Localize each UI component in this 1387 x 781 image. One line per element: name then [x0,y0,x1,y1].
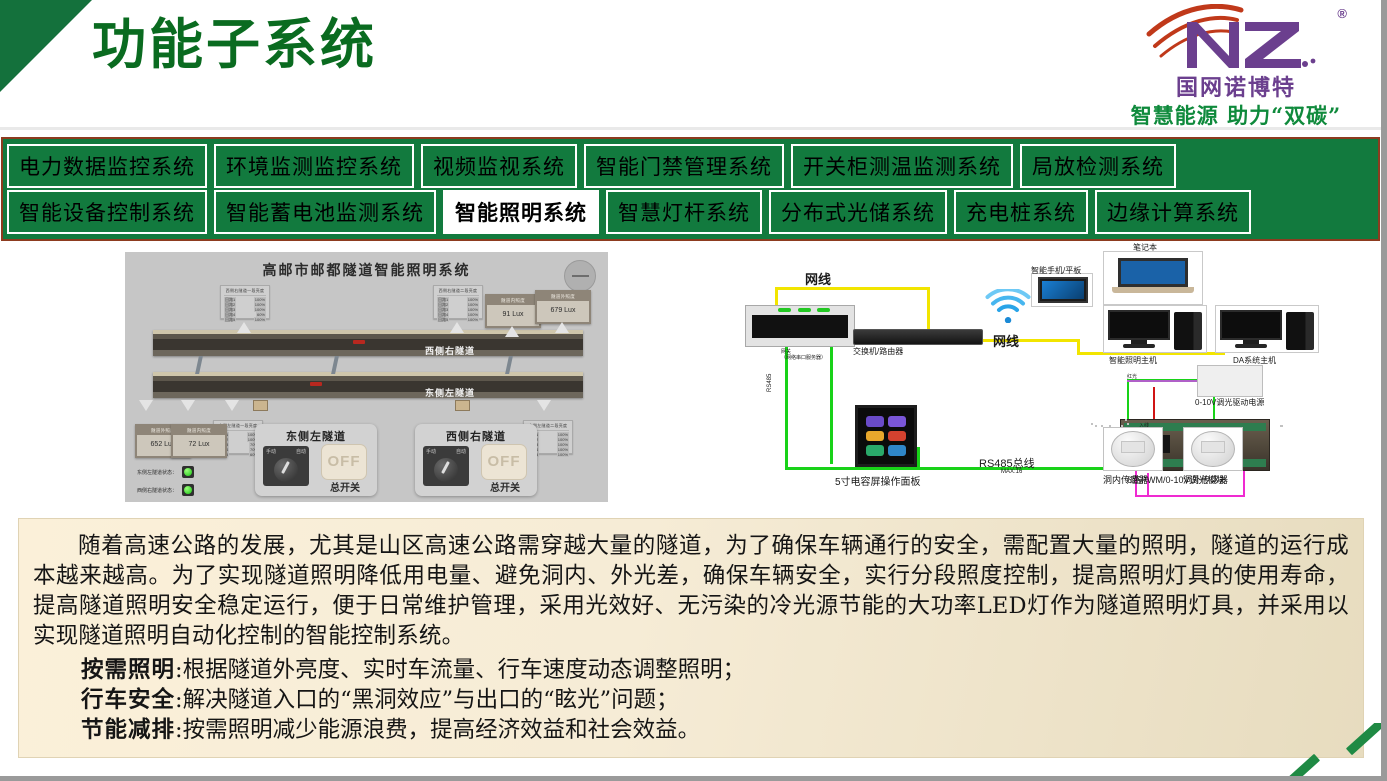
bullet-energy-saving: 节能减排:按需照明减少能源浪费，提高经济效益和社会效益。 [33,715,1349,745]
tunnel-control-panel-east[interactable]: 东侧左隧道 手动 自动 OFF 总开关 [255,424,377,496]
control-panel-title: 东侧左隧道 [255,424,377,444]
gateway-screen [752,315,847,338]
logo-company-name: 国网诺博特 [1113,70,1359,102]
monitor-screen [1108,310,1170,340]
sensor-outdoor [1183,427,1243,471]
laptop-device [1118,258,1188,298]
rs485-vertical-label: RS485 [767,374,773,392]
sensor-spacer7 [1127,423,1129,425]
tab-switchgear-temperature[interactable]: 开关柜测温监测系统 [791,144,1013,188]
bullet-on-demand-lighting: 按需照明:根据隧道外亮度、实时车流量、行车速度动态调整照明； [33,655,1349,685]
panel-tile[interactable] [866,416,884,427]
slide-header: 功能子系统 ® 国网诺博特 智慧能源 助力“双碳” [0,0,1381,133]
rs485-wire [785,342,788,470]
sensor-disc-icon [1191,431,1235,467]
page-title: 功能子系统 [92,9,377,79]
tunnel-lighting-scada-image: 高邮市邮都隧道智能照明系统 西侧右隧道 东侧左隧道 西侧右隧道一段亮度 回路11… [125,252,608,502]
logo-mark-icon [1145,4,1335,76]
control-panel-title: 西侧右隧道 [415,424,537,444]
field-device-icon [455,400,470,411]
tunnel-tube-east [153,372,583,398]
vehicle-marker [310,382,322,386]
info-box-header: 西侧右隧道一段亮度 [224,288,266,296]
knob-label-manual: 手动 [266,448,276,455]
tablet-device [1038,277,1088,303]
lux-display-inside-1: 隧道内照度 91 Lux [485,294,541,328]
knob-label-auto: 自动 [456,448,466,455]
monitor-base [1235,344,1267,348]
subsystem-tab-bar: 电力数据监控系统 环境监测监控系统 视频监视系统 智能门禁管理系统 开关柜测温监… [1,137,1380,241]
tunnel-label-west: 西侧右隧道 [425,344,475,357]
tab-partial-discharge[interactable]: 局放检测系统 [1020,144,1176,188]
corner-decoration [1241,723,1381,781]
rs485-wire [830,342,833,464]
sensor-wire [1135,495,1245,497]
lighting-host-label: 智能照明主机 [1109,355,1157,366]
decoration-bar [1346,723,1381,755]
laptop-screen [1118,258,1188,287]
description-panel: 随着高速公路的发展，尤其是山区高速公路需穿越大量的隧道，为了确保车辆通行的安全，… [18,518,1364,758]
tab-environment-monitoring[interactable]: 环境监测监控系统 [214,144,414,188]
tab-power-data-monitoring[interactable]: 电力数据监控系统 [7,144,207,188]
tab-charging-pile[interactable]: 充电桩系统 [954,190,1088,234]
sensor-indoor [1103,427,1163,471]
master-switch-button[interactable]: OFF [481,444,527,480]
lux-display-inside-2: 隧道内照度 72 Lux [171,424,227,458]
tab-row-1: 电力数据监控系统 环境监测监控系统 视频监视系统 智能门禁管理系统 开关柜测温监… [7,144,1374,188]
bullet-term: 节能减排 [81,717,175,743]
mode-selector-knob[interactable]: 手动 自动 [263,446,309,486]
rs485-max-label: MAX:16 [1001,469,1022,475]
knob-label-manual: 手动 [426,448,436,455]
pc-tower-device [1174,312,1202,350]
field-device-icon [253,400,268,411]
gateway-led-icon [778,308,791,313]
tablet-label: 智能手机/平板 [1031,265,1081,276]
status-led-icon [182,466,194,478]
lux-header: 隧道内照度 [173,426,225,435]
tab-smart-device-control[interactable]: 智能设备控制系统 [7,190,207,234]
bullet-separator: : [175,657,183,683]
page-edge-right [1381,0,1387,781]
scada-title: 高邮市邮都隧道智能照明系统 [125,260,608,280]
tab-access-control[interactable]: 智能门禁管理系统 [584,144,784,188]
tab-smart-lighting[interactable]: 智能照明系统 [443,190,599,234]
lighting-host-photo [1103,305,1207,353]
arrow-down-icon [181,400,195,411]
notebook-photo [1103,251,1203,305]
lux-value: 72 Lux [173,435,225,454]
cable-label-top: 网线 [805,269,831,288]
description-paragraph: 随着高速公路的发展，尤其是山区高速公路需穿越大量的隧道，为了确保车辆通行的安全，… [33,531,1349,651]
sensor-spacer9 [1095,425,1097,427]
bullet-separator: : [175,687,183,713]
tab-row-2: 智能设备控制系统 智能蓄电池监测系统 智能照明系统 智慧灯杆系统 分布式光储系统… [7,190,1374,234]
logo-slogan: 智慧能源 助力“双碳” [1113,100,1359,130]
master-switch-label: 总开关 [321,479,369,494]
rs485-wire [785,467,920,470]
gateway-led-icon [817,308,830,313]
master-switch-label: 总开关 [481,479,529,494]
compass-icon [564,260,596,292]
network-switch-device [853,329,983,345]
bullet-term: 按需照明 [81,657,175,683]
sensor-disc-icon [1111,431,1155,467]
tablet-photo [1031,273,1093,307]
knob-label-auto: 自动 [296,448,306,455]
arrow-down-icon [537,400,551,411]
bullet-description: 解决隧道入口的“黑洞效应”与出口的“眩光”问题； [183,687,679,713]
arrow-up-icon [237,322,251,333]
arrow-up-icon [555,322,569,333]
panel-tile[interactable] [866,445,884,456]
panel-tile[interactable] [866,431,884,442]
media-area: 高邮市邮都隧道智能照明系统 西侧右隧道 东侧左隧道 西侧右隧道一段亮度 回路11… [0,247,1381,512]
arrow-down-icon [139,400,153,411]
bullet-description: 根据隧道外亮度、实时车流量、行车速度动态调整照明； [183,657,746,683]
monitor-base [1123,344,1155,348]
status-row-east: 东侧左隧道状态： [137,466,194,478]
lux-header: 隧道内照度 [487,296,539,305]
info-box-header: 西侧右隧道二段亮度 [437,288,479,296]
registered-trademark-icon: ® [1337,6,1347,21]
info-row-value: 100% [557,452,569,457]
sensor-spacer6 [1125,419,1127,421]
arrow-down-icon [225,400,239,411]
lux-header: 隧道外照度 [537,292,589,301]
ethernet-wire [927,287,930,329]
sensor-indoor-label: 洞内传感器 [1103,473,1148,486]
router-label: 交换机/路由器 [853,346,903,357]
vehicle-marker [353,340,365,344]
sensor-spacer11 [1280,425,1282,427]
tunnel-label-east: 东侧左隧道 [425,386,475,399]
bullet-term: 行车安全 [81,687,175,713]
monitor-device [1108,310,1170,350]
da-host-photo [1215,305,1319,353]
status-label: 西侧右隧道状态： [137,487,177,494]
notebook-label: 笔记本 [1133,242,1157,253]
lux-value: 91 Lux [487,305,539,324]
sensor-wire [1243,471,1245,497]
tab-video-surveillance[interactable]: 视频监视系统 [421,144,577,188]
status-row-west: 西侧右隧道状态： [137,484,194,496]
red-wire-label: 红光 [1127,373,1137,380]
panel-tile[interactable] [888,445,906,456]
arrow-up-icon [450,322,464,333]
tab-distributed-pv-storage[interactable]: 分布式光储系统 [769,190,947,234]
info-row-value: 100% [254,317,266,322]
sensor-outdoor-label: 洞外传感器 [1183,473,1228,486]
mode-selector-knob[interactable]: 手动 自动 [423,446,469,486]
tab-smart-light-pole[interactable]: 智慧灯杆系统 [606,190,762,234]
info-row-name: 回路5 [224,317,236,322]
capacitive-touch-panel[interactable] [855,405,917,467]
network-topology-diagram: 网关（网络串口服务器） RS485 交换机/路由器 智能手机/平板 [735,247,1375,509]
wifi-icon [985,289,1031,323]
signal-wire [1127,380,1197,382]
pc-tower-device [1286,312,1314,350]
tab-edge-computing[interactable]: 边缘计算系统 [1095,190,1251,234]
info-row-name: 回路5 [437,317,449,322]
slide-root: 功能子系统 ® 国网诺博特 智慧能源 助力“双碳” 电力数据监控系统 [0,0,1387,781]
knob-dial[interactable] [274,458,298,482]
rs485-wire [917,447,920,469]
sensor-spacer5 [1091,423,1093,425]
info-row-value: 100% [467,317,479,322]
tab-battery-monitoring[interactable]: 智能蓄电池监测系统 [214,190,436,234]
tablet-screen [1042,281,1084,299]
status-led-icon [182,484,194,496]
arrow-up-icon [505,326,519,337]
master-switch-button[interactable]: OFF [321,444,367,480]
monitor-device [1220,310,1282,350]
brightness-info-box: 西侧右隧道二段亮度 回路1100% 回路2100% 回路3100% 回路4100… [433,285,483,319]
lux-value: 679 Lux [537,301,589,320]
tunnel-control-panel-west[interactable]: 西侧右隧道 手动 自动 OFF 总开关 [415,424,537,496]
gateway-device [745,305,855,347]
laptop-keyboard [1112,287,1195,293]
page-edge-bottom [0,776,1387,781]
monitor-screen [1220,310,1282,340]
gateway-led-icon [798,308,811,313]
feature-bullet-list: 按需照明:根据隧道外亮度、实时车流量、行车速度动态调整照明； 行车安全:解决隧道… [33,655,1349,745]
psu-label: 0-10V调光驱动电源 [1195,397,1264,408]
company-logo: ® 国网诺博特 智慧能源 助力“双碳” [1113,2,1359,130]
ethernet-wire [775,287,930,290]
bullet-separator: : [175,717,183,743]
cable-label-mid: 网线 [993,331,1019,350]
bullet-description: 按需照明减少能源浪费，提高经济效益和社会效益。 [183,717,701,743]
panel-tile[interactable] [888,416,906,427]
panel-tile[interactable] [888,431,906,442]
dimming-power-supply [1197,365,1263,397]
bullet-driving-safety: 行车安全:解决隧道入口的“黑洞效应”与出口的“眩光”问题； [33,685,1349,715]
brightness-info-box: 西侧右隧道一段亮度 回路1100% 回路2100% 回路3100% 回路460%… [220,285,270,319]
capacitive-panel-label: 5寸电容屏操作面板 [835,473,921,488]
gateway-label: 网关（网络串口服务器） [781,349,826,361]
knob-dial[interactable] [434,458,458,482]
lux-display-outside-1: 隧道外照度 679 Lux [535,290,591,324]
corner-triangle-decoration [0,0,92,92]
status-label: 东侧左隧道状态： [137,469,177,476]
